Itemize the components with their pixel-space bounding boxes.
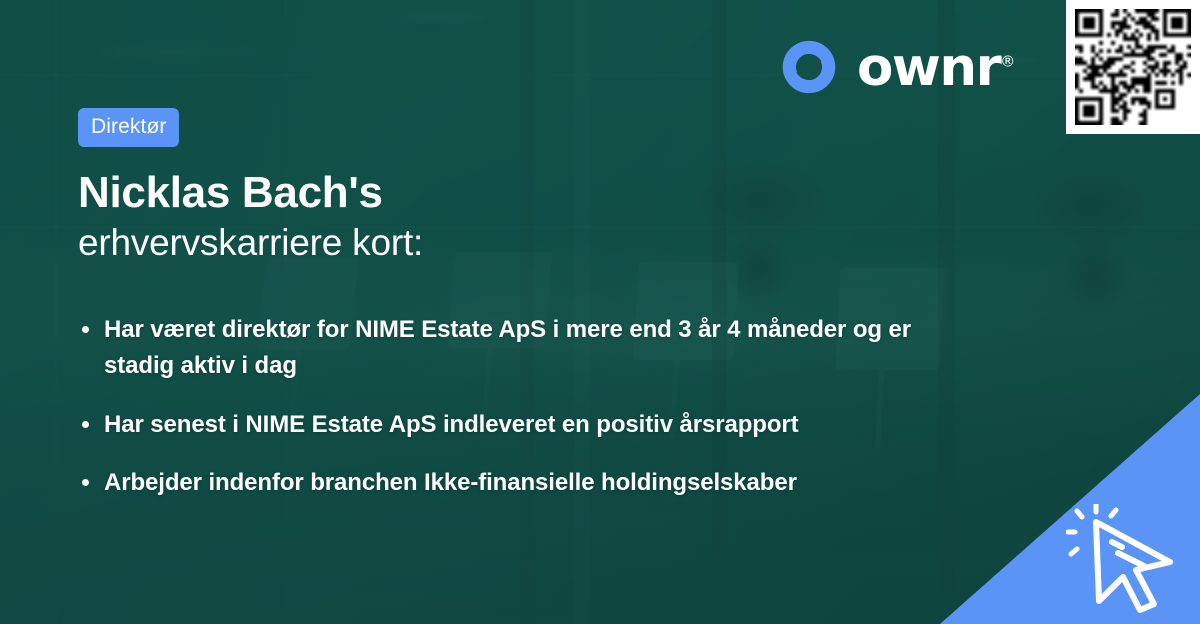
ownr-wordmark-text: ownr (857, 37, 1000, 98)
business-career-card: ownr® Direktør Nicklas Bach's erhvervska… (0, 0, 1200, 624)
qr-code-icon (1075, 9, 1191, 125)
career-fact-item: Arbejder indenfor branchen Ikke-finansie… (78, 465, 958, 501)
click-cursor-icon (1066, 504, 1186, 614)
title-line-1: Nicklas Bach's (78, 168, 938, 217)
ownr-circle-swirl-icon (778, 36, 840, 98)
bullet-dot-icon (82, 421, 89, 428)
ownr-wordmark: ownr® (857, 41, 1015, 94)
title-line-2: erhvervskarriere kort: (78, 221, 938, 265)
career-fact-item: Har senest i NIME Estate ApS indleveret … (78, 407, 958, 443)
registered-mark: ® (1000, 52, 1015, 70)
qr-code-panel[interactable] (1066, 0, 1200, 134)
role-badge: Direktør (78, 108, 179, 147)
bullet-dot-icon (82, 326, 89, 333)
career-fact-text: Arbejder indenfor branchen Ikke-finansie… (104, 469, 797, 496)
career-fact-item: Har været direktør for NIME Estate ApS i… (78, 312, 958, 385)
bullet-dot-icon (82, 479, 89, 486)
headline-block: Direktør Nicklas Bach's erhvervskarriere… (78, 108, 938, 266)
page-title: Nicklas Bach's erhvervskarriere kort: (78, 168, 938, 266)
ownr-logo[interactable]: ownr® (778, 36, 1015, 98)
career-fact-text: Har været direktør for NIME Estate ApS i… (104, 316, 911, 379)
career-facts-list: Har været direktør for NIME Estate ApS i… (78, 312, 958, 502)
career-fact-text: Har senest i NIME Estate ApS indleveret … (104, 411, 799, 438)
